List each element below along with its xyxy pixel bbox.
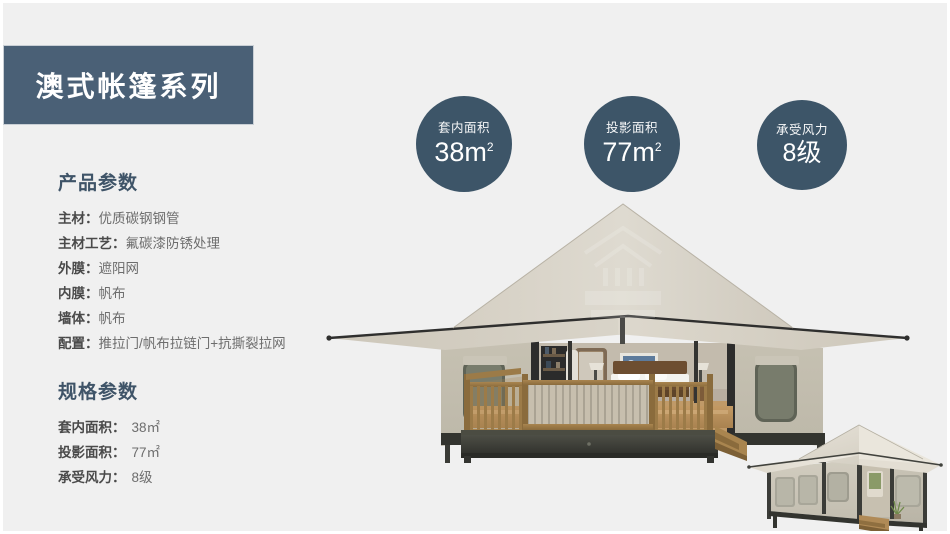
stat-badge-interior-area: 套内面积 38m2: [416, 96, 512, 192]
stat-value: 77m2: [602, 139, 661, 166]
tent-deck: [461, 368, 747, 463]
stat-superscript: 2: [655, 140, 662, 154]
spec-key: 内膜：: [58, 286, 99, 301]
page-title-banner: 澳式帐篷系列: [3, 45, 254, 125]
stat-number: 77: [602, 137, 632, 167]
spec-value: 帆布: [99, 286, 126, 301]
stat-label: 承受风力: [776, 124, 828, 137]
thumb-tent-walls: [767, 459, 927, 534]
product-parameter-heading: 产品参数: [58, 168, 358, 195]
tent-roof: [326, 204, 909, 350]
spec-key: 套内面积：: [58, 420, 126, 435]
spec-row: 主材工艺：氟碳漆防锈处理: [58, 231, 358, 256]
stat-unit: m: [632, 137, 655, 167]
spec-row: 配置：推拉门/帆布拉链门+抗撕裂拉网: [58, 331, 358, 356]
spec-key: 承受风力：: [58, 470, 126, 485]
spec-key: 配置：: [58, 336, 99, 351]
spec-key: 墙体：: [58, 311, 99, 326]
spec-value: 推拉门/帆布拉链门+抗撕裂拉网: [99, 336, 286, 351]
spec-row: 承受风力：8级: [58, 465, 358, 490]
spec-key: 外膜：: [58, 261, 99, 276]
size-parameter-heading: 规格参数: [58, 377, 358, 404]
thumbnail-tent-image: [747, 415, 950, 534]
spec-value: 8级: [126, 470, 153, 485]
stat-badge-projection-area: 投影面积 77m2: [584, 96, 680, 192]
slide-page: 澳式帐篷系列 产品参数 主材：优质碳钢钢管 主材工艺：氟碳漆防锈处理 外膜：遮阳…: [0, 0, 950, 534]
size-parameter-group: 规格参数 套内面积：38㎡ 投影面积：77㎡ 承受风力：8级: [58, 377, 358, 490]
stat-unit: m: [464, 137, 487, 167]
stat-label: 投影面积: [606, 122, 658, 135]
product-parameter-group: 产品参数 主材：优质碳钢钢管 主材工艺：氟碳漆防锈处理 外膜：遮阳网 内膜：帆布…: [58, 168, 358, 356]
spec-row: 套内面积：38㎡: [58, 415, 358, 440]
tent-angle-illustration: [747, 415, 950, 534]
spec-key: 投影面积：: [58, 445, 126, 460]
spec-row: 墙体：帆布: [58, 306, 358, 331]
page-title: 澳式帐篷系列: [35, 65, 221, 105]
stat-value: 8级: [783, 141, 822, 166]
spec-value: 帆布: [99, 311, 126, 326]
spec-value: 38㎡: [126, 420, 161, 435]
stat-label: 套内面积: [438, 122, 490, 135]
spec-row: 主材：优质碳钢钢管: [58, 206, 358, 231]
spec-value: 遮阳网: [99, 261, 140, 276]
spec-row: 投影面积：77㎡: [58, 440, 358, 465]
stat-number: 8级: [783, 139, 822, 167]
stat-badge-wind-resistance: 承受风力 8级: [757, 100, 847, 190]
spec-value: 氟碳漆防锈处理: [126, 236, 221, 251]
stat-value: 38m2: [434, 139, 493, 166]
stat-superscript: 2: [487, 140, 494, 154]
spec-row: 内膜：帆布: [58, 281, 358, 306]
spec-key: 主材工艺：: [58, 236, 126, 251]
spec-value: 优质碳钢钢管: [99, 211, 180, 226]
spec-key: 主材：: [58, 211, 99, 226]
stat-number: 38: [434, 137, 464, 167]
spec-row: 外膜：遮阳网: [58, 256, 358, 281]
specification-column: 产品参数 主材：优质碳钢钢管 主材工艺：氟碳漆防锈处理 外膜：遮阳网 内膜：帆布…: [58, 168, 358, 490]
spec-value: 77㎡: [126, 445, 161, 460]
